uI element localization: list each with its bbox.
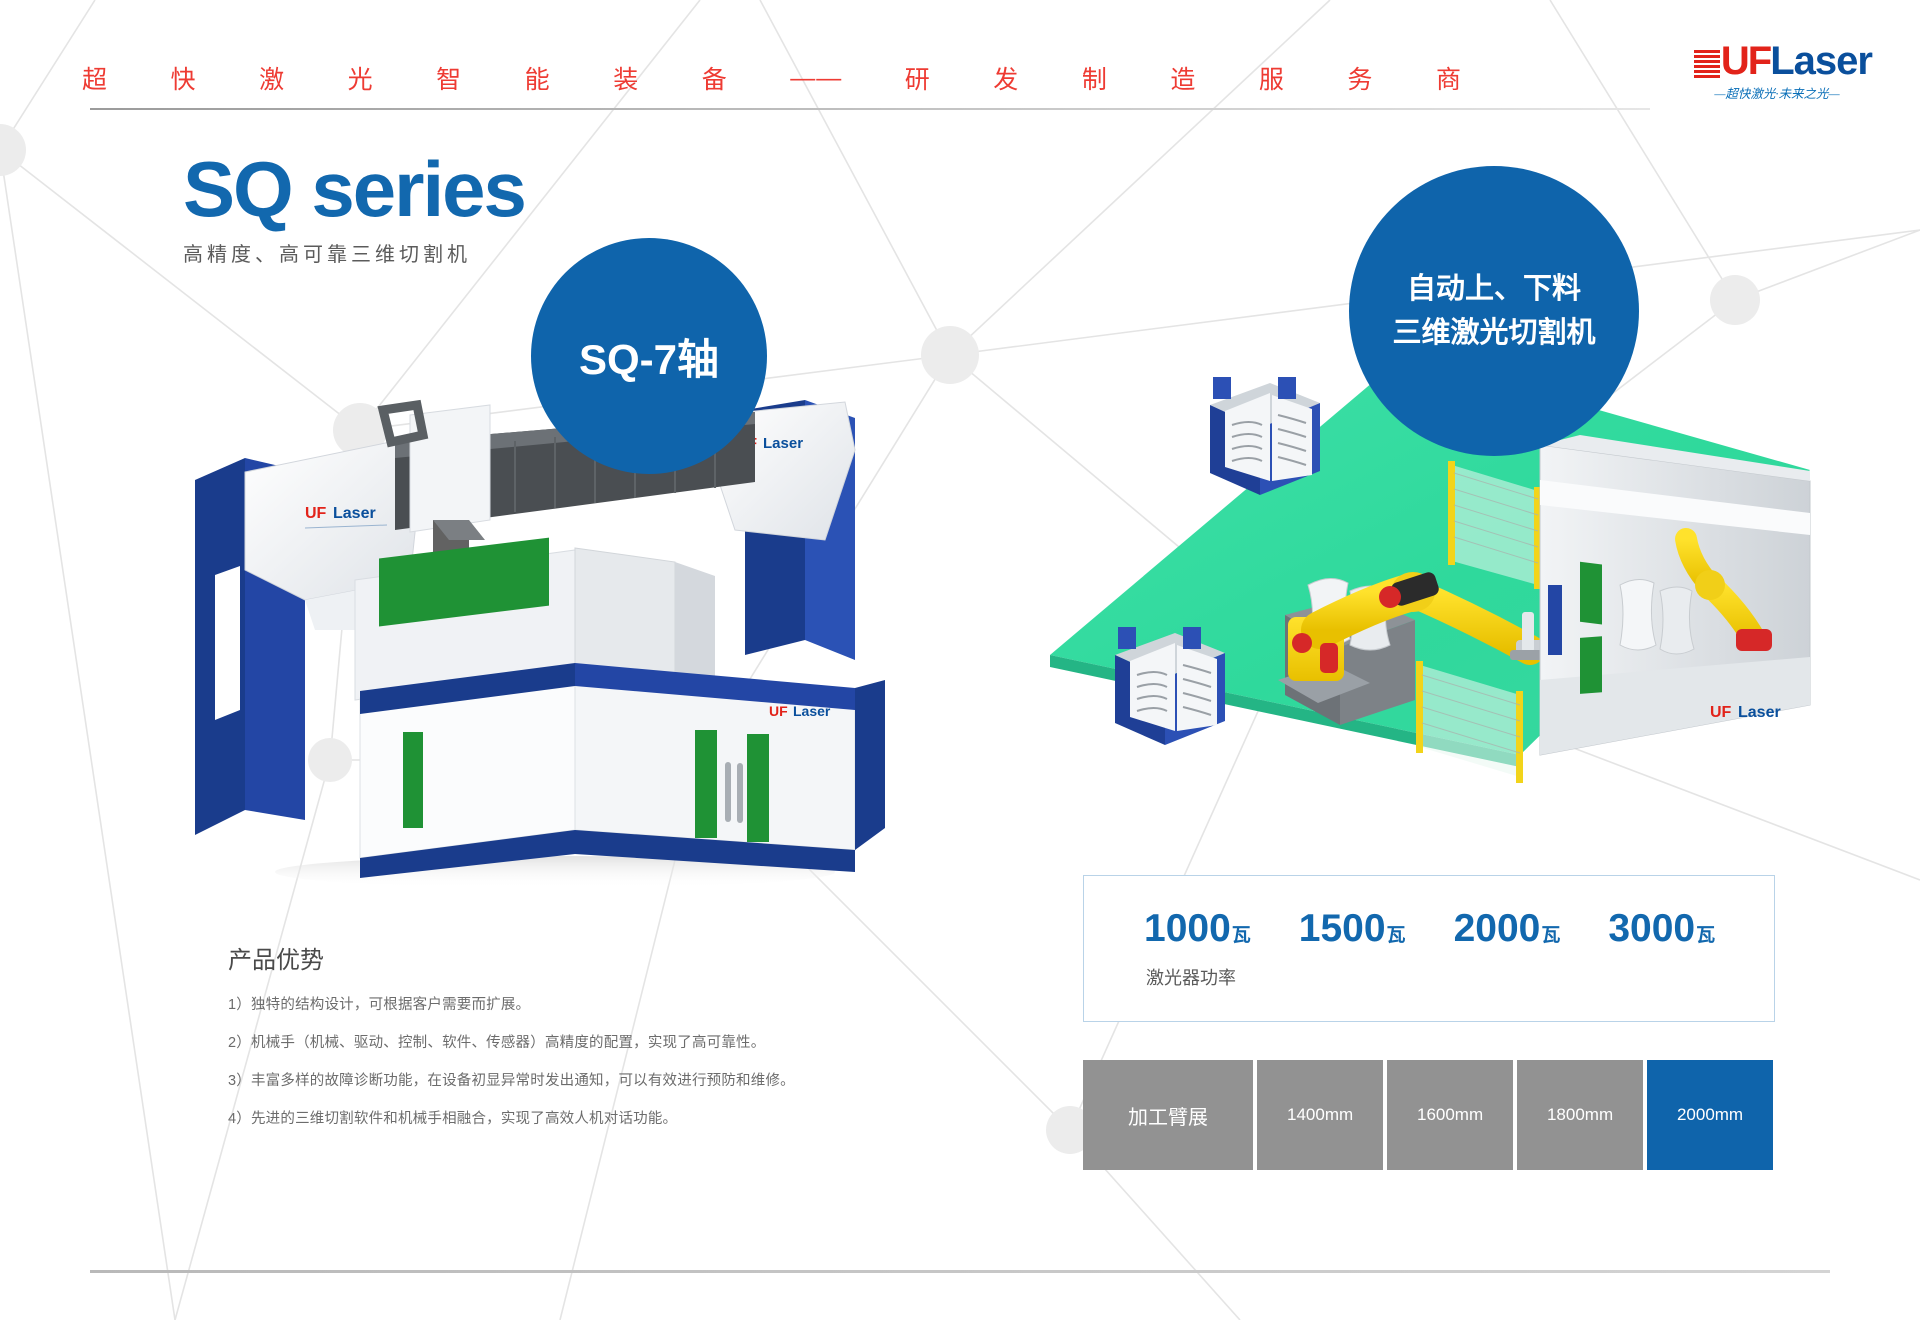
title-block: SQ series 高精度、高可靠三维切割机 — [183, 150, 525, 267]
header-divider — [90, 108, 1650, 110]
power-values-row: 1000瓦 1500瓦 2000瓦 3000瓦 — [1084, 876, 1774, 956]
power-value: 2000 — [1454, 907, 1541, 950]
slogan-char: 备 — [702, 60, 728, 96]
callout-auto-line1: 自动上、下料 — [1392, 267, 1595, 311]
power-unit: 瓦 — [1232, 925, 1251, 946]
power-unit: 瓦 — [1541, 925, 1560, 946]
slogan-dash: —— — [790, 64, 842, 93]
slogan-char: 快 — [171, 60, 197, 96]
slogan-char: 商 — [1436, 60, 1462, 96]
slogan-char: 智 — [436, 60, 462, 96]
power-label: 激光器功率 — [1084, 964, 1774, 990]
slogan-char: 装 — [613, 60, 639, 96]
power-value: 1500 — [1299, 907, 1386, 950]
power-option: 3000瓦 — [1608, 909, 1715, 956]
footer-divider — [90, 1270, 1830, 1273]
slogan-char: 造 — [1170, 60, 1196, 96]
logo-tagline: —超快激光·未来之光— — [1682, 83, 1872, 102]
slogan-char: 服 — [1259, 60, 1285, 96]
power-value: 1000 — [1144, 907, 1231, 950]
logo-uf-text: UF — [1721, 42, 1770, 80]
power-option: 1000瓦 — [1144, 909, 1251, 956]
laser-power-panel: 1000瓦 1500瓦 2000瓦 3000瓦 激光器功率 — [1083, 875, 1775, 1022]
spec-table-header: 加工臂展 — [1083, 1060, 1253, 1170]
callout-sq7-label: SQ-7轴 — [579, 326, 719, 387]
arm-span-spec-table: 加工臂展 1400mm 1600mm 1800mm 2000mm — [1083, 1060, 1773, 1170]
slogan-char: 能 — [525, 60, 551, 96]
power-value: 3000 — [1608, 907, 1695, 950]
spec-cell-2000mm[interactable]: 2000mm — [1647, 1060, 1773, 1170]
advantage-item: 3）丰富多样的故障诊断功能，在设备初显异常时发出通知，可以有效进行预防和维修。 — [228, 1071, 868, 1091]
svg-text:Laser: Laser — [793, 703, 831, 719]
power-unit: 瓦 — [1696, 925, 1715, 946]
slogan-char: 发 — [993, 60, 1019, 96]
callout-auto-loading: 自动上、下料 三维激光切割机 — [1349, 166, 1639, 456]
svg-text:UF: UF — [1710, 704, 1732, 721]
advantage-item: 4）先进的三维切割软件和机械手相融合，实现了高效人机对话功能。 — [228, 1109, 868, 1129]
laser-beam-icon — [1694, 50, 1720, 80]
slogan-char: 务 — [1347, 60, 1373, 96]
uf-laser-logo: UF Laser —超快激光·未来之光— — [1682, 38, 1872, 102]
callout-auto-line2: 三维激光切割机 — [1392, 311, 1595, 355]
product-advantages-section: 产品优势 1）独特的结构设计，可根据客户需要而扩展。 2）机械手（机械、驱动、控… — [228, 940, 868, 1147]
svg-text:Laser: Laser — [333, 505, 376, 522]
slogan-char: 制 — [1082, 60, 1108, 96]
advantages-title: 产品优势 — [228, 940, 868, 975]
svg-text:Laser: Laser — [763, 435, 803, 452]
svg-text:UF: UF — [305, 505, 327, 522]
page-subtitle: 高精度、高可靠三维切割机 — [183, 238, 525, 267]
svg-text:Laser: Laser — [1738, 704, 1781, 721]
power-option: 2000瓦 — [1454, 909, 1561, 956]
logo-laser-text: Laser — [1770, 42, 1872, 80]
sq-7-axis-machine-image: UF Laser UF Laser — [155, 380, 915, 890]
slogan-char: 光 — [348, 60, 374, 96]
slogan-char: 研 — [905, 60, 931, 96]
spec-cell-1600mm[interactable]: 1600mm — [1387, 1060, 1513, 1170]
power-option: 1500瓦 — [1299, 909, 1406, 956]
spec-cell-1800mm[interactable]: 1800mm — [1517, 1060, 1643, 1170]
header-slogan: 超 快 激 光 智 能 装 备 —— 研 发 制 造 服 务 商 — [82, 60, 1462, 96]
page-title: SQ series — [183, 150, 525, 228]
callout-sq7-axis: SQ-7轴 — [531, 238, 767, 474]
svg-text:UF: UF — [769, 703, 788, 719]
power-unit: 瓦 — [1387, 925, 1406, 946]
slogan-char: 超 — [82, 60, 108, 96]
advantage-item: 1）独特的结构设计，可根据客户需要而扩展。 — [228, 995, 868, 1015]
advantage-item: 2）机械手（机械、驱动、控制、软件、传感器）高精度的配置，实现了高可靠性。 — [228, 1033, 868, 1053]
spec-cell-1400mm[interactable]: 1400mm — [1257, 1060, 1383, 1170]
page-header: 超 快 激 光 智 能 装 备 —— 研 发 制 造 服 务 商 UF Lase… — [0, 0, 1920, 118]
slogan-char: 激 — [259, 60, 285, 96]
